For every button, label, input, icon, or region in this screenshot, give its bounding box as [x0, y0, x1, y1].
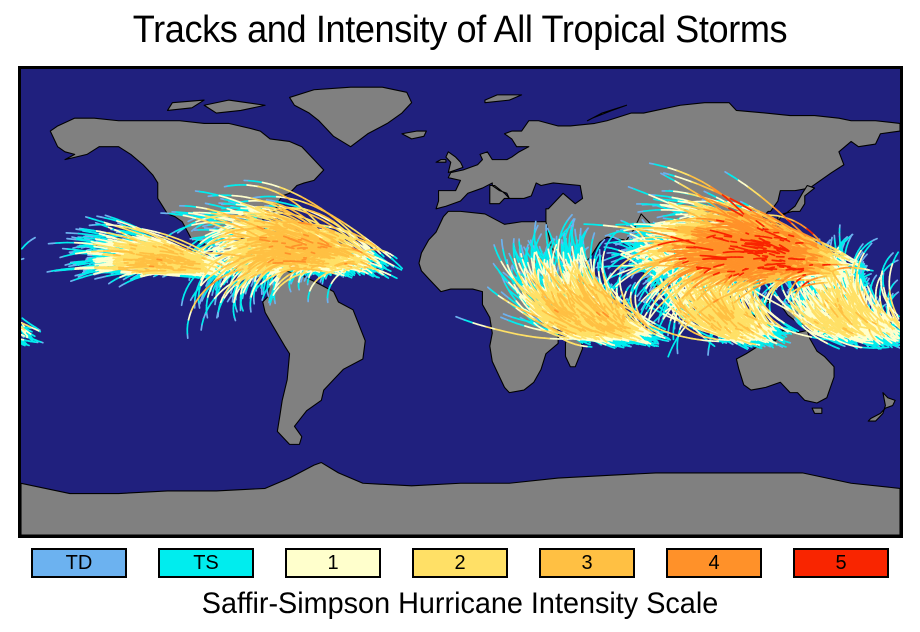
figure-root: Tracks and Intensity of All Tropical Sto…: [0, 0, 920, 632]
legend-swatch-tropical-depression[interactable]: TD: [31, 548, 127, 578]
legend-label: 3: [581, 553, 592, 573]
legend-label: TD: [66, 553, 93, 573]
legend-label: 1: [327, 553, 338, 573]
legend-label: TS: [193, 553, 219, 573]
legend-swatch-category-4[interactable]: 4: [666, 548, 762, 578]
legend-swatch-tropical-storm[interactable]: TS: [158, 548, 254, 578]
page-title: Tracks and Intensity of All Tropical Sto…: [23, 6, 897, 54]
legend-swatch-category-5[interactable]: 5: [793, 548, 889, 578]
legend-caption: Saffir-Simpson Hurricane Intensity Scale: [18, 584, 901, 624]
legend-swatch-category-3[interactable]: 3: [539, 548, 635, 578]
legend-swatch-category-2[interactable]: 2: [412, 548, 508, 578]
map-canvas: [21, 69, 900, 535]
world-storm-track-map: [18, 66, 903, 538]
intensity-legend: TDTS12345: [0, 546, 920, 580]
legend-label: 2: [454, 553, 465, 573]
legend-label: 5: [835, 553, 846, 573]
legend-label: 4: [708, 553, 719, 573]
legend-swatch-category-1[interactable]: 1: [285, 548, 381, 578]
